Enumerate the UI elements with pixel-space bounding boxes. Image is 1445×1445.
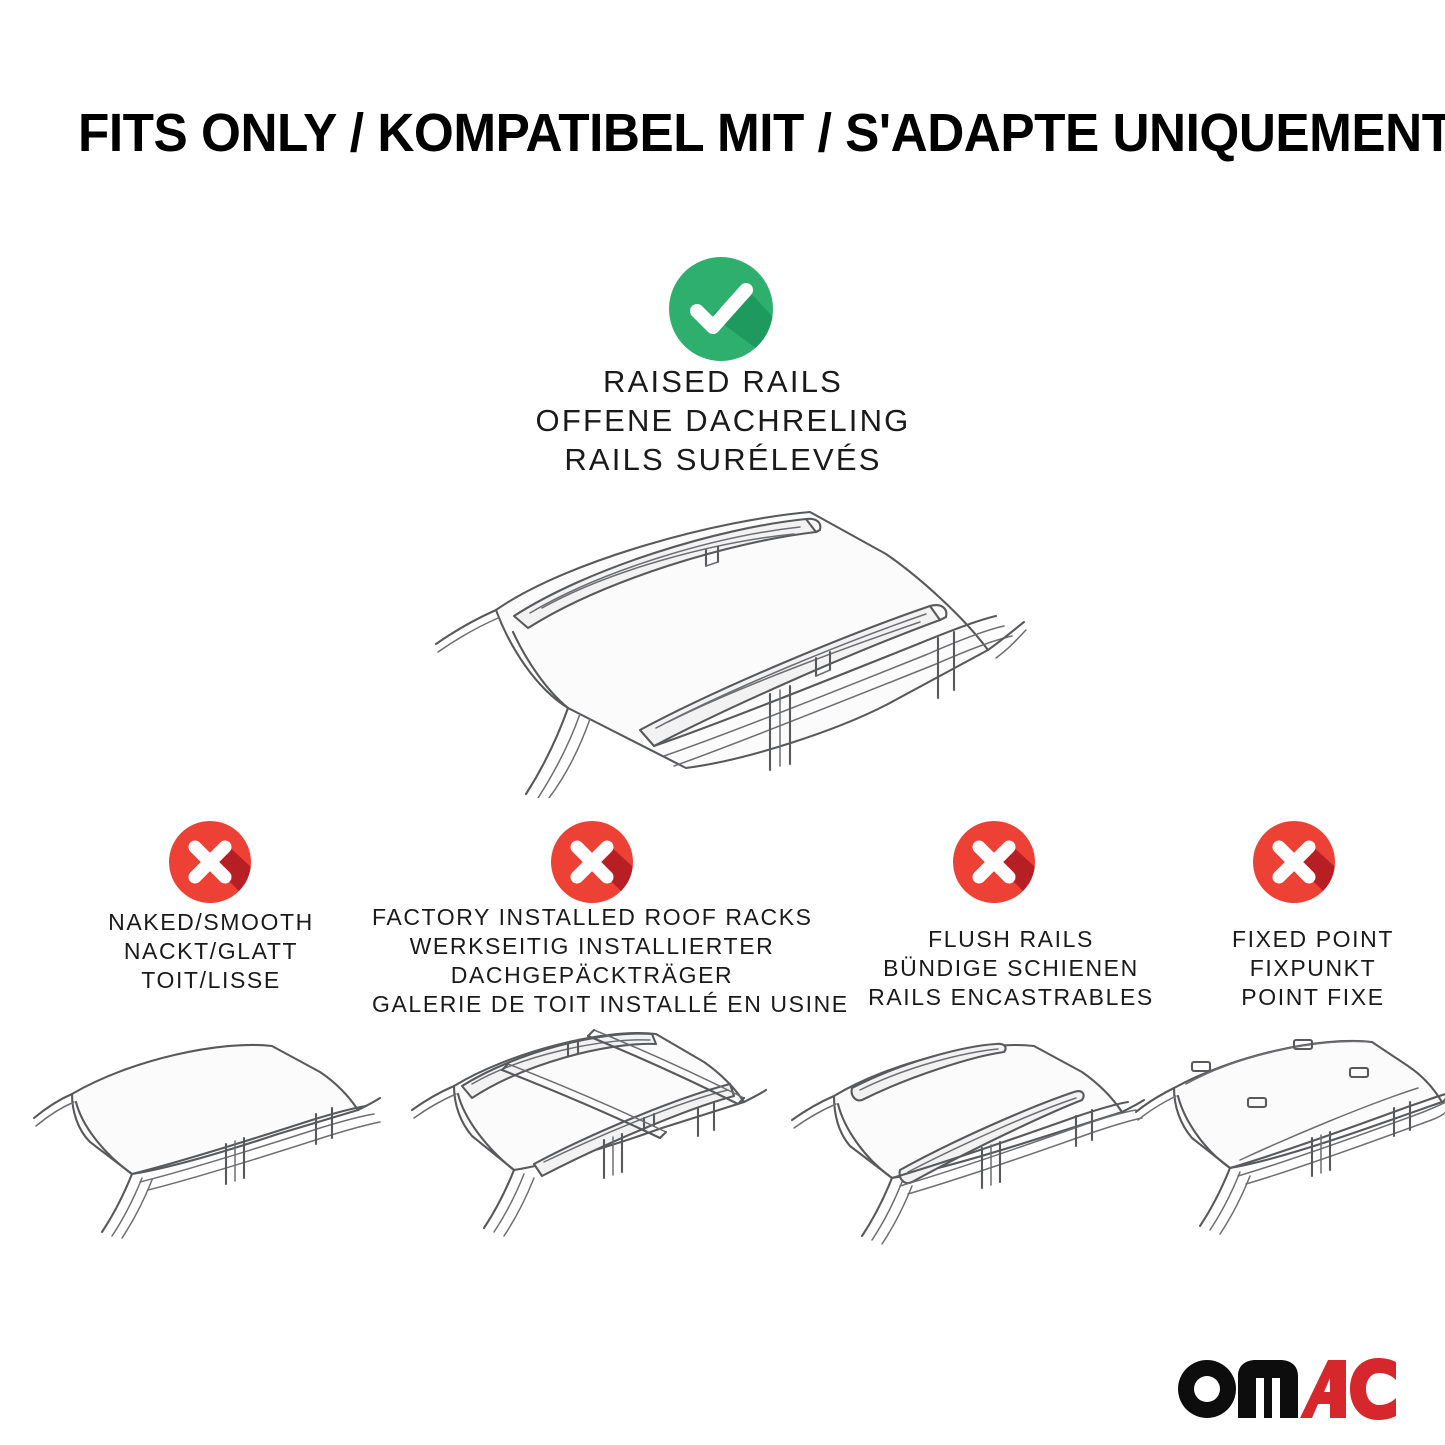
infographic-canvas: FITS ONLY / KOMPATIBEL MIT / S'ADAPTE UN…: [0, 0, 1445, 1445]
car-roof-raised-rails-illustration: [418, 498, 1028, 798]
flush-rails-label-line-3: RAILS ENCASTRABLES: [828, 983, 1194, 1012]
raised-rails-label-line-1: RAISED RAILS: [373, 362, 1073, 401]
naked-smooth-label-line-1: NAKED/SMOOTH: [28, 908, 394, 937]
factory-racks-label: FACTORY INSTALLED ROOF RACKS WERKSEITIG …: [372, 903, 812, 1019]
car-roof-flush-rails-illustration: [778, 1022, 1150, 1254]
fixed-point-label-line-3: POINT FIXE: [1180, 983, 1445, 1012]
car-roof-naked-smooth-illustration: [20, 1022, 382, 1254]
factory-racks-label-line-3: DACHGEPÄCKTRÄGER: [372, 961, 812, 990]
raised-rails-label-line-2: OFFENE DACHRELING: [373, 401, 1073, 440]
omac-logo: [1176, 1358, 1396, 1420]
x-circle-icon: [953, 821, 1035, 903]
check-circle-icon: [669, 257, 773, 361]
car-roof-factory-installed-racks-illustration: [398, 1008, 770, 1254]
page-title: FITS ONLY / KOMPATIBEL MIT / S'ADAPTE UN…: [78, 104, 1313, 162]
fixed-point-label-line-2: FIXPUNKT: [1180, 954, 1445, 983]
flush-rails-label-line-2: BÜNDIGE SCHIENEN: [828, 954, 1194, 983]
fixed-point-label-line-1: FIXED POINT: [1180, 925, 1445, 954]
fixed-point-label: FIXED POINT FIXPUNKT POINT FIXE: [1180, 925, 1445, 1012]
naked-smooth-label-line-2: NACKT/GLATT: [28, 937, 394, 966]
raised-rails-label-line-3: RAILS SURÉLEVÉS: [373, 440, 1073, 479]
naked-smooth-label-line-3: TOIT/LISSE: [28, 966, 394, 995]
factory-racks-label-line-1: FACTORY INSTALLED ROOF RACKS: [372, 903, 812, 932]
x-circle-icon: [1253, 821, 1335, 903]
factory-racks-label-line-2: WERKSEITIG INSTALLIERTER: [372, 932, 812, 961]
naked-smooth-label: NAKED/SMOOTH NACKT/GLATT TOIT/LISSE: [28, 908, 394, 995]
car-roof-fixed-point-illustration: [1128, 1022, 1445, 1254]
raised-rails-label: RAISED RAILS OFFENE DACHRELING RAILS SUR…: [373, 362, 1073, 479]
x-circle-icon: [551, 821, 633, 903]
flush-rails-label-line-1: FLUSH RAILS: [828, 925, 1194, 954]
flush-rails-label: FLUSH RAILS BÜNDIGE SCHIENEN RAILS ENCAS…: [828, 925, 1194, 1012]
x-circle-icon: [169, 821, 251, 903]
